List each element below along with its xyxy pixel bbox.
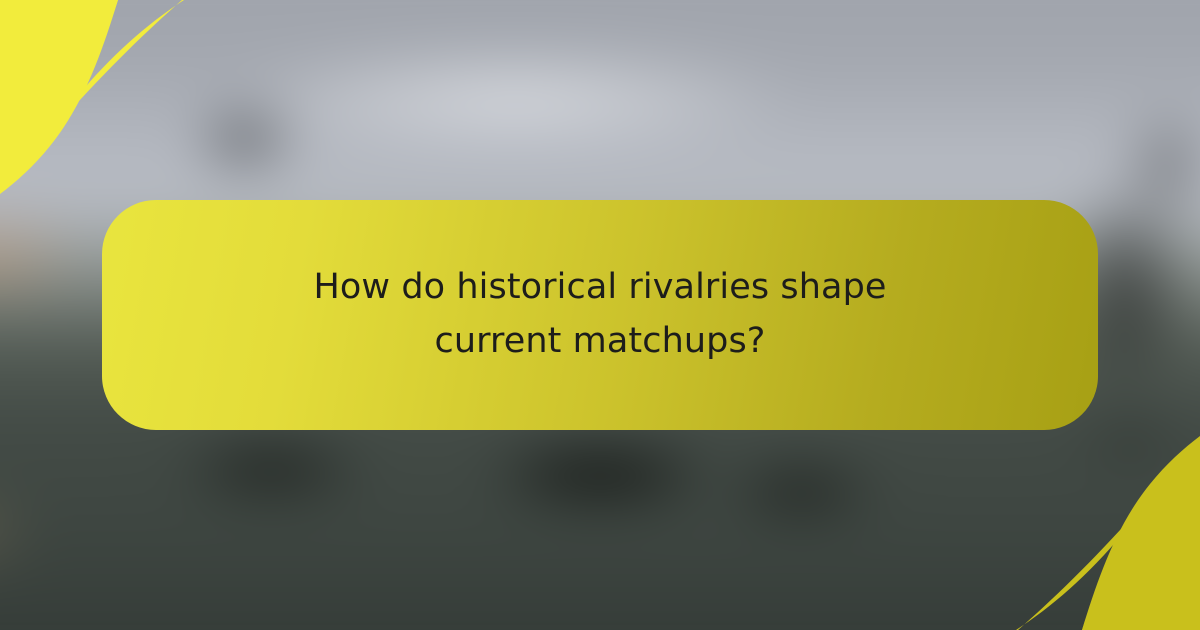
question-text: How do historical rivalries shape curren… <box>250 261 950 368</box>
question-card: How do historical rivalries shape curren… <box>102 200 1098 430</box>
social-card-canvas: How do historical rivalries shape curren… <box>0 0 1200 630</box>
